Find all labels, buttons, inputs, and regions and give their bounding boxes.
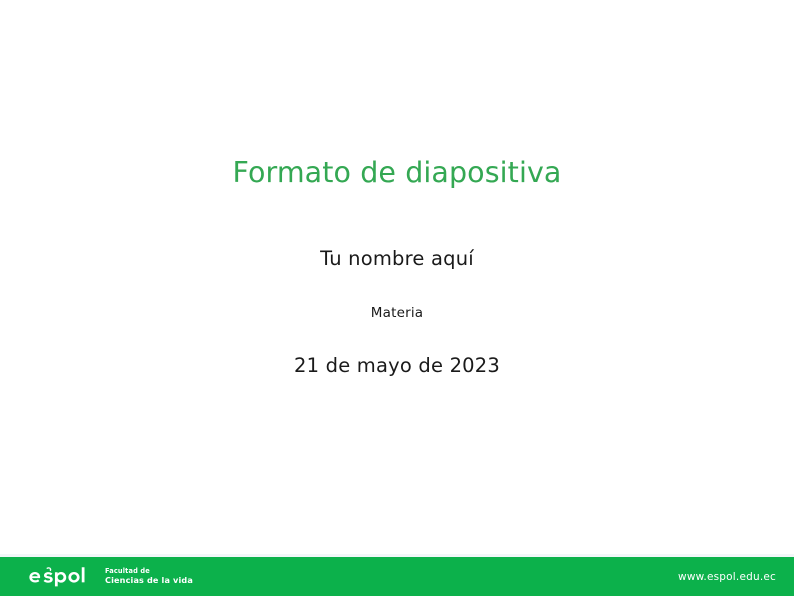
faculty-name: Facultad de Ciencias de la vida — [105, 567, 193, 587]
subject-name: Materia — [0, 306, 794, 321]
page-title: Formato de diapositiva — [0, 157, 794, 188]
footer-bar: Facultad de Ciencias de la vida www.espo… — [0, 557, 794, 596]
footer-url[interactable]: www.espol.edu.ec — [678, 557, 776, 596]
footer-branding: Facultad de Ciencias de la vida — [28, 557, 193, 596]
faculty-line-1: Facultad de — [105, 567, 193, 576]
presentation-date: 21 de mayo de 2023 — [0, 355, 794, 376]
author-name: Tu nombre aquí — [0, 248, 794, 269]
title-slide: Formato de diapositiva Tu nombre aquí Ma… — [0, 0, 794, 596]
faculty-line-2: Ciencias de la vida — [105, 575, 193, 586]
espol-logo-icon — [28, 566, 94, 587]
